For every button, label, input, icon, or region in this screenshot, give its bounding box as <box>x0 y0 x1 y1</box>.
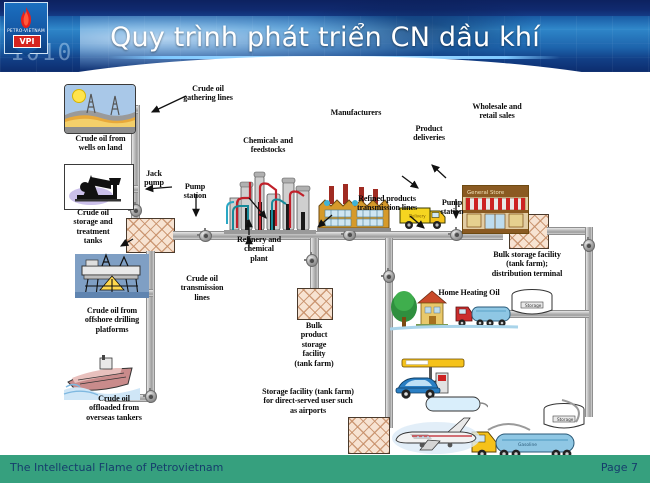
label-pump-station-2: Pumpstation <box>424 198 480 217</box>
slide-footer: The Intellectual Flame of Petrovietnam P… <box>0 455 650 483</box>
flame-icon <box>18 7 34 29</box>
petrovietnam-vpi-logo: PETRO-VIETNAM VPI <box>4 2 48 54</box>
label-chemicals-feedstocks: Chemicals andfeedstocks <box>226 136 310 155</box>
label-airport-storage: Storage facility (tank farm)for direct-s… <box>248 387 368 415</box>
label-wholesale-retail: Wholesale andretail sales <box>452 102 542 121</box>
logo-vpi-badge: VPI <box>13 35 41 48</box>
diagram-canvas: Delivery General Store <box>0 72 650 455</box>
logo-brand-text: PETRO-VIETNAM <box>4 29 48 34</box>
label-crude-transmission: Crude oiltransmissionlines <box>166 274 238 302</box>
label-pump-station-1: Pumpstation <box>166 182 224 201</box>
label-manufacturers: Manufacturers <box>312 108 400 117</box>
slide-root: 1010 Quy trình phát triển CN dầu khí PET… <box>0 0 650 483</box>
label-refinery: Refinery andchemicalplant <box>218 235 300 263</box>
label-offshore-platforms: Crude oil fromoffshore drillingplatforms <box>56 306 168 334</box>
label-bulk-storage-terminal: Bulk storage facility(tank farm);distrib… <box>456 250 598 278</box>
slide-header: 1010 Quy trình phát triển CN dầu khí <box>0 0 650 72</box>
label-gathering-lines: Crude oilgathering lines <box>160 84 256 103</box>
label-home-heating-oil: Home Heating Oil <box>422 288 516 297</box>
label-product-deliveries: Productdeliveries <box>398 124 460 143</box>
label-storage-treatment: Crude oilstorage andtreatmenttanks <box>58 208 128 246</box>
footer-page-number: Page 7 <box>601 461 638 474</box>
footer-tagline: The Intellectual Flame of Petrovietnam <box>10 461 223 474</box>
label-crude-wells-land: Crude oil fromwells on land <box>48 134 153 153</box>
label-overseas-tankers: Crude oiloffloaded fromoverseas tankers <box>58 394 170 422</box>
label-bulk-product-storage: Bulkproductstoragefacility(tank farm) <box>282 321 346 368</box>
